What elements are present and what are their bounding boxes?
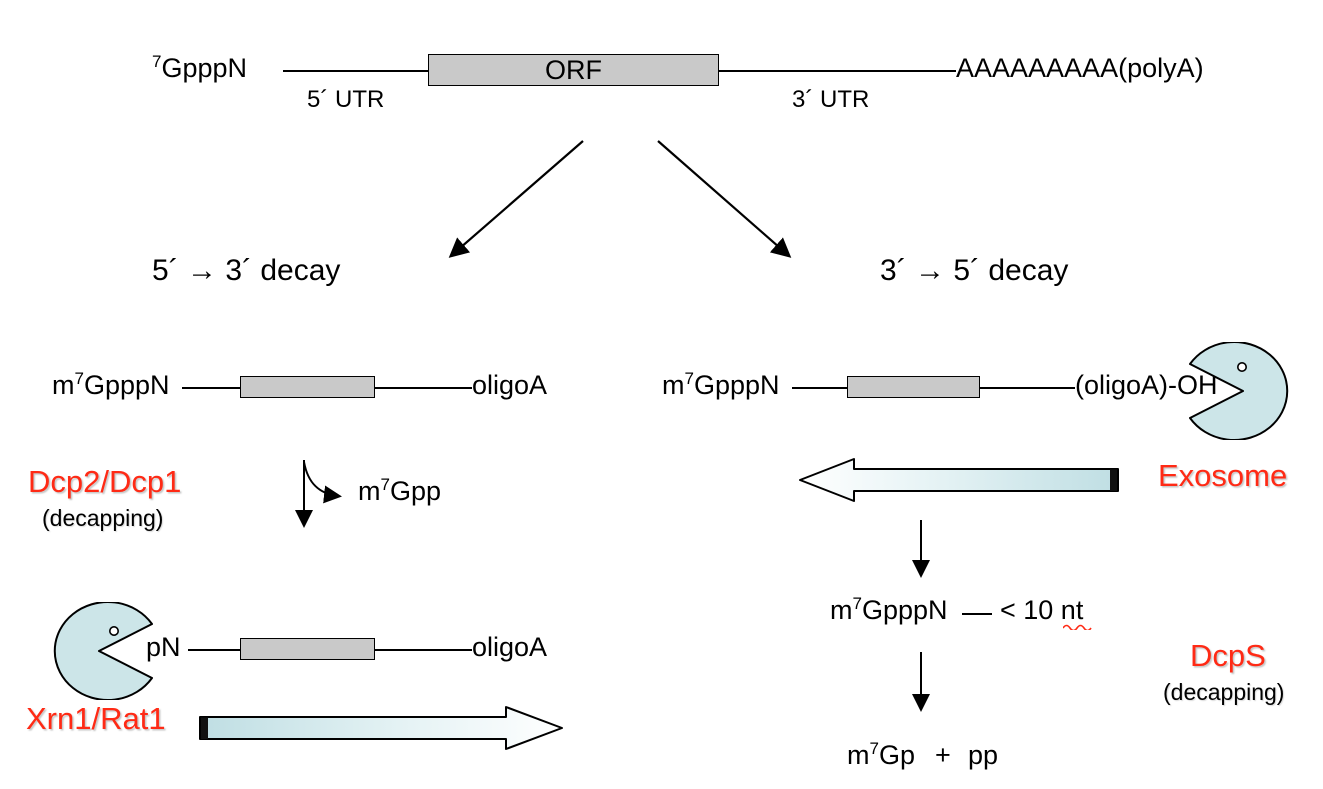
decapped-mrna-5end-label: pN [146, 634, 181, 661]
cap-intermediate-gpppn: GpppN [862, 595, 948, 625]
spellcheck-squiggle-icon [1063, 622, 1093, 630]
right-pathway-title: 3´ → 5´ decay [880, 256, 1068, 286]
exosome-to-cap-arrow-group [900, 518, 942, 584]
final-product-pp: pp [968, 742, 998, 769]
left-cap-m: m [52, 370, 75, 400]
right-mrna-orf-box [847, 376, 980, 398]
cap-intermediate-connector-line [962, 613, 992, 615]
cap-intermediate-length-label: < 10 nt [1000, 597, 1083, 624]
five-utr-label: 5´ UTR [307, 88, 384, 112]
top-mrna-orf-box: ORF [428, 54, 719, 86]
dcps-activity-label: (decapping) [1163, 681, 1284, 704]
m7gpp-m: m [358, 476, 381, 506]
left-mrna-oligoa-label: oligoA [472, 372, 547, 399]
right-cap-m: m [662, 370, 685, 400]
dcps-enzyme-label: DcpS [1190, 640, 1266, 671]
xrn1-degradation-arrow-icon [196, 705, 568, 751]
cap-intermediate-m: m [830, 595, 853, 625]
exosome-degradation-arrow-icon [796, 455, 1122, 503]
final-product-superscript-7: 7 [870, 739, 879, 758]
right-mrna-3utr-line [980, 387, 1075, 389]
left-mrna-cap-label: m7GpppN [52, 372, 170, 399]
decapped-mrna-5utr-line [188, 649, 240, 651]
decapped-mrna-oligoa-label: oligoA [472, 634, 547, 661]
left-mrna-5utr-line [182, 387, 240, 389]
top-mrna-3utr-line [719, 70, 956, 72]
exosome-enzyme-label: Exosome [1158, 460, 1287, 491]
final-product-gp: Gp [879, 740, 915, 770]
m7gpp-release-curved-arrow-icon [304, 462, 338, 496]
orf-label: ORF [545, 55, 602, 86]
m7gpp-rest: Gpp [390, 476, 441, 506]
branch-arrows-group [420, 110, 840, 295]
right-mrna-cap-label: m7GpppN [662, 372, 780, 399]
left-mrna-3utr-line [375, 387, 472, 389]
dcps-reaction-arrow-group [900, 650, 942, 720]
xrn1-rat1-enzyme-label: Xrn1/Rat1 [26, 703, 166, 734]
m7gpp-superscript-7: 7 [381, 475, 390, 494]
dcp2-dcp1-enzyme-label: Dcp2/Dcp1 [28, 466, 181, 497]
diagram-canvas: 7GpppN ORF AAAAAAAAA(polyA) 5´ UTR 3´ UT… [0, 0, 1323, 789]
dcp2-dcp1-activity-label: (decapping) [42, 507, 163, 530]
left-cap-gpppn: GpppN [84, 370, 170, 400]
m7gpp-product-label: m7Gpp [358, 478, 441, 505]
cap-gpppn: GpppN [161, 53, 247, 83]
top-mrna-5utr-line [283, 70, 429, 72]
cap-intermediate-superscript-7: 7 [853, 594, 862, 613]
three-utr-label: 3´ UTR [792, 88, 869, 112]
cap-intermediate-label: m7GpppN [830, 597, 948, 624]
xrn1-pacman-icon [42, 602, 157, 700]
right-mrna-5utr-line [792, 387, 847, 389]
final-products-plus-sign: + [935, 742, 951, 769]
final-products-label: m7Gp [847, 742, 915, 769]
left-pathway-title: 5´ → 3´ decay [152, 256, 340, 286]
right-cap-gpppn: GpppN [694, 370, 780, 400]
left-cap-superscript-7: 7 [75, 369, 84, 388]
decapping-arrow-group [278, 452, 488, 562]
right-cap-superscript-7: 7 [685, 369, 694, 388]
exosome-pacman-icon [1185, 342, 1300, 440]
branch-arrow-left-icon [452, 141, 583, 255]
final-product-m: m [847, 740, 870, 770]
left-mrna-orf-box [240, 376, 375, 398]
decapped-mrna-orf-box [240, 638, 375, 660]
top-mrna-cap-label: 7GpppN [152, 55, 247, 82]
decapped-mrna-3utr-line [375, 649, 472, 651]
branch-arrow-right-icon [658, 141, 788, 255]
top-mrna-polya-label: AAAAAAAAA(polyA) [956, 55, 1204, 82]
